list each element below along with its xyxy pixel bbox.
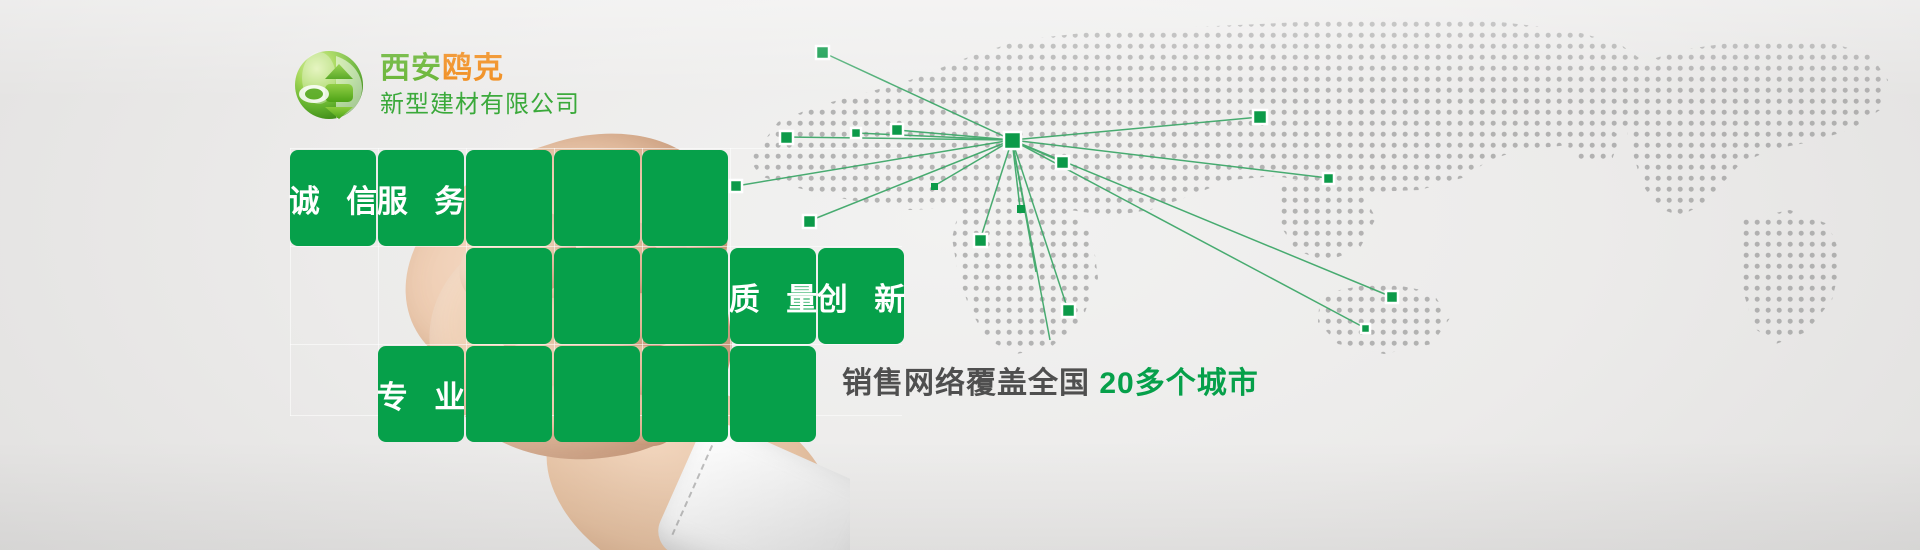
tile-blank-3[interactable] (642, 150, 728, 246)
promo-banner: 诚 信服 务质 量创 新专 业 (0, 0, 1920, 550)
tile-quality[interactable]: 质 量 (730, 248, 816, 344)
map-node (1323, 173, 1334, 184)
tile-blank-9[interactable] (642, 346, 728, 442)
tile-service[interactable]: 服 务 (378, 150, 464, 246)
map-node (1253, 110, 1267, 124)
map-node (1017, 205, 1025, 213)
tile-innovation-label: 创 新 (808, 274, 915, 319)
map-node-hub (1004, 132, 1021, 149)
tile-professional-label: 专 业 (368, 372, 475, 417)
map-node (816, 46, 829, 59)
logo-wordmark: 西安鸥克 新型建材有限公司 (380, 54, 580, 117)
tile-blank-10[interactable] (730, 346, 816, 442)
tile-blank-1[interactable] (466, 150, 552, 246)
tile-service-label: 服 务 (368, 176, 475, 221)
map-node (1386, 291, 1398, 303)
tile-blank-8[interactable] (554, 346, 640, 442)
tile-blank-6[interactable] (642, 248, 728, 344)
map-node (1062, 304, 1075, 317)
tile-integrity[interactable]: 诚 信 (290, 150, 376, 246)
map-node (891, 124, 903, 136)
map-node (974, 234, 987, 247)
tile-blank-2[interactable] (554, 150, 640, 246)
tagline-highlight: 20多个城市 (1099, 367, 1258, 400)
map-node (851, 128, 861, 138)
tile-blank-4[interactable] (466, 248, 552, 344)
map-node (1361, 324, 1370, 333)
logo-brand: 鸥克 (442, 52, 504, 85)
map-node (931, 183, 938, 190)
map-node (1056, 156, 1069, 169)
green-globe-leaf-logo (292, 48, 366, 122)
tagline-prefix: 销售网络覆盖全国 (842, 367, 1090, 400)
logo-line-2: 新型建材有限公司 (380, 93, 580, 117)
tile-blank-5[interactable] (554, 248, 640, 344)
tile-innovation[interactable]: 创 新 (818, 248, 904, 344)
tile-blank-7[interactable] (466, 346, 552, 442)
sales-network-tagline: 销售网络覆盖全国 20多个城市 (842, 358, 1259, 402)
logo-city: 西安 (380, 52, 442, 85)
tile-professional[interactable]: 专 业 (378, 346, 464, 442)
logo-line-1: 西安鸥克 (380, 54, 580, 84)
company-logo[interactable]: 西安鸥克 新型建材有限公司 (292, 48, 580, 122)
